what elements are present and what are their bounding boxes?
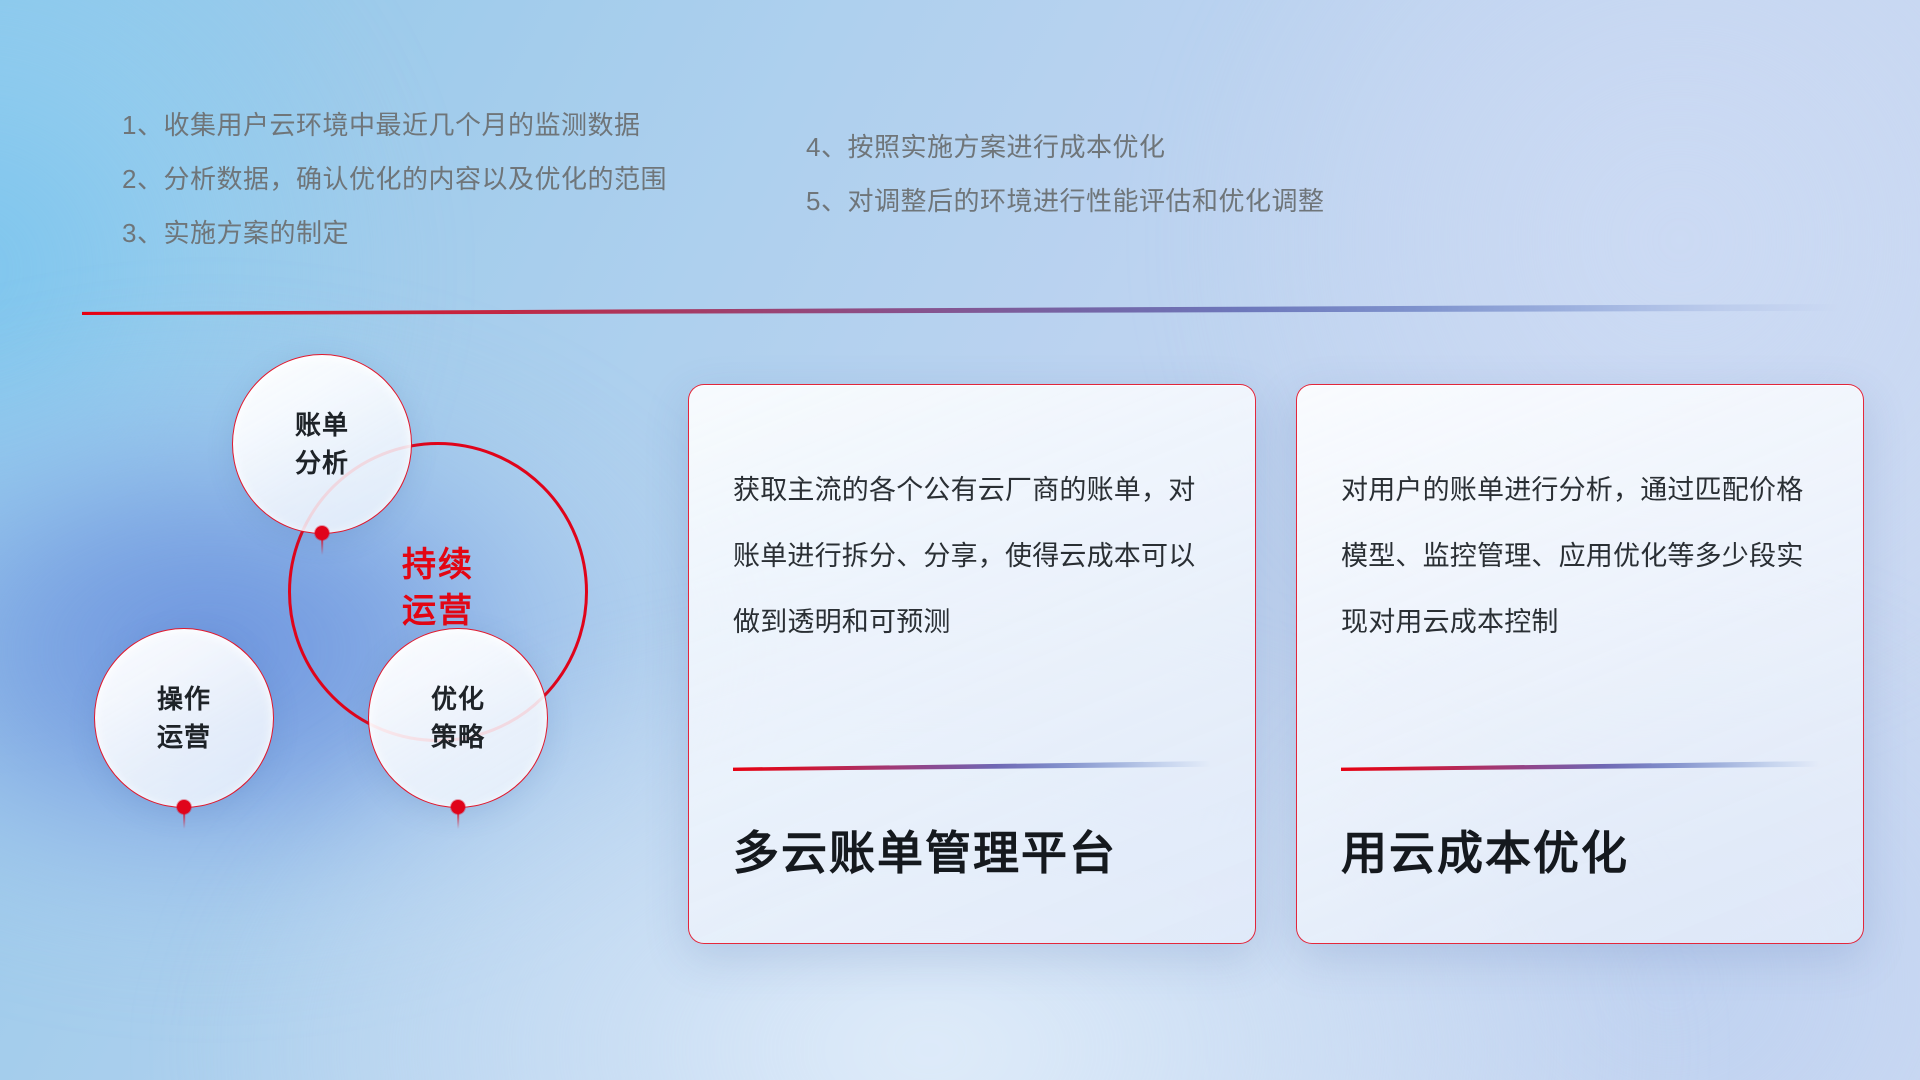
venn-bubble-optimization-strategy-line1: 优化 [431,680,485,718]
feature-card-multicloud-billing-body: 获取主流的各个公有云厂商的账单，对账单进行拆分、分享，使得云成本可以做到透明和可… [733,457,1211,655]
divider-gradient-bar [82,304,1842,315]
venn-marker-dot-top [315,526,329,540]
step-item-2: 2、分析数据，确认优化的内容以及优化的范围 [122,152,742,206]
step-item-4: 4、按照实施方案进行成本优化 [806,120,1506,174]
venn-bubble-optimization-strategy[interactable]: 优化 策略 [368,628,548,808]
step-item-5: 5、对调整后的环境进行性能评估和优化调整 [806,174,1506,228]
step-item-1: 1、收集用户云环境中最近几个月的监测数据 [122,98,742,152]
feature-card-multicloud-billing[interactable]: 获取主流的各个公有云厂商的账单，对账单进行拆分、分享，使得云成本可以做到透明和可… [688,384,1256,944]
venn-center-label-line1: 持续 [288,542,588,588]
venn-marker-dot-left [177,800,191,814]
venn-center-label: 持续 运营 [288,542,588,634]
section-divider [82,300,1842,322]
venn-center-label-line2: 运营 [288,588,588,634]
slide-stage: 1、收集用户云环境中最近几个月的监测数据 2、分析数据，确认优化的内容以及优化的… [0,0,1920,1080]
feature-card-cost-optimization-title: 用云成本优化 [1341,773,1819,943]
steps-left-column: 1、收集用户云环境中最近几个月的监测数据 2、分析数据，确认优化的内容以及优化的… [122,98,742,260]
venn-bubble-bill-analysis[interactable]: 账单 分析 [232,354,412,534]
feature-card-cost-optimization[interactable]: 对用户的账单进行分析，通过匹配价格模型、监控管理、应用优化等多少段实现对用云成本… [1296,384,1864,944]
venn-bubble-operations[interactable]: 操作 运营 [94,628,274,808]
venn-bubble-operations-line1: 操作 [157,680,211,718]
venn-bubble-bill-analysis-line1: 账单 [295,406,349,444]
step-item-3: 3、实施方案的制定 [122,206,742,260]
feature-card-multicloud-billing-title: 多云账单管理平台 [733,773,1211,943]
feature-card-multicloud-billing-rule [733,761,1211,773]
venn-marker-dot-right [451,800,465,814]
feature-card-cost-optimization-body: 对用户的账单进行分析，通过匹配价格模型、监控管理、应用优化等多少段实现对用云成本… [1341,457,1819,655]
venn-diagram: 持续 运营 账单 分析 操作 运营 优化 策略 [96,356,636,936]
feature-card-cost-optimization-rule [1341,761,1819,773]
venn-bubble-optimization-strategy-line2: 策略 [431,718,485,756]
venn-bubble-operations-line2: 运营 [157,718,211,756]
venn-bubble-bill-analysis-line2: 分析 [295,444,349,482]
steps-right-column: 4、按照实施方案进行成本优化 5、对调整后的环境进行性能评估和优化调整 [806,120,1506,228]
